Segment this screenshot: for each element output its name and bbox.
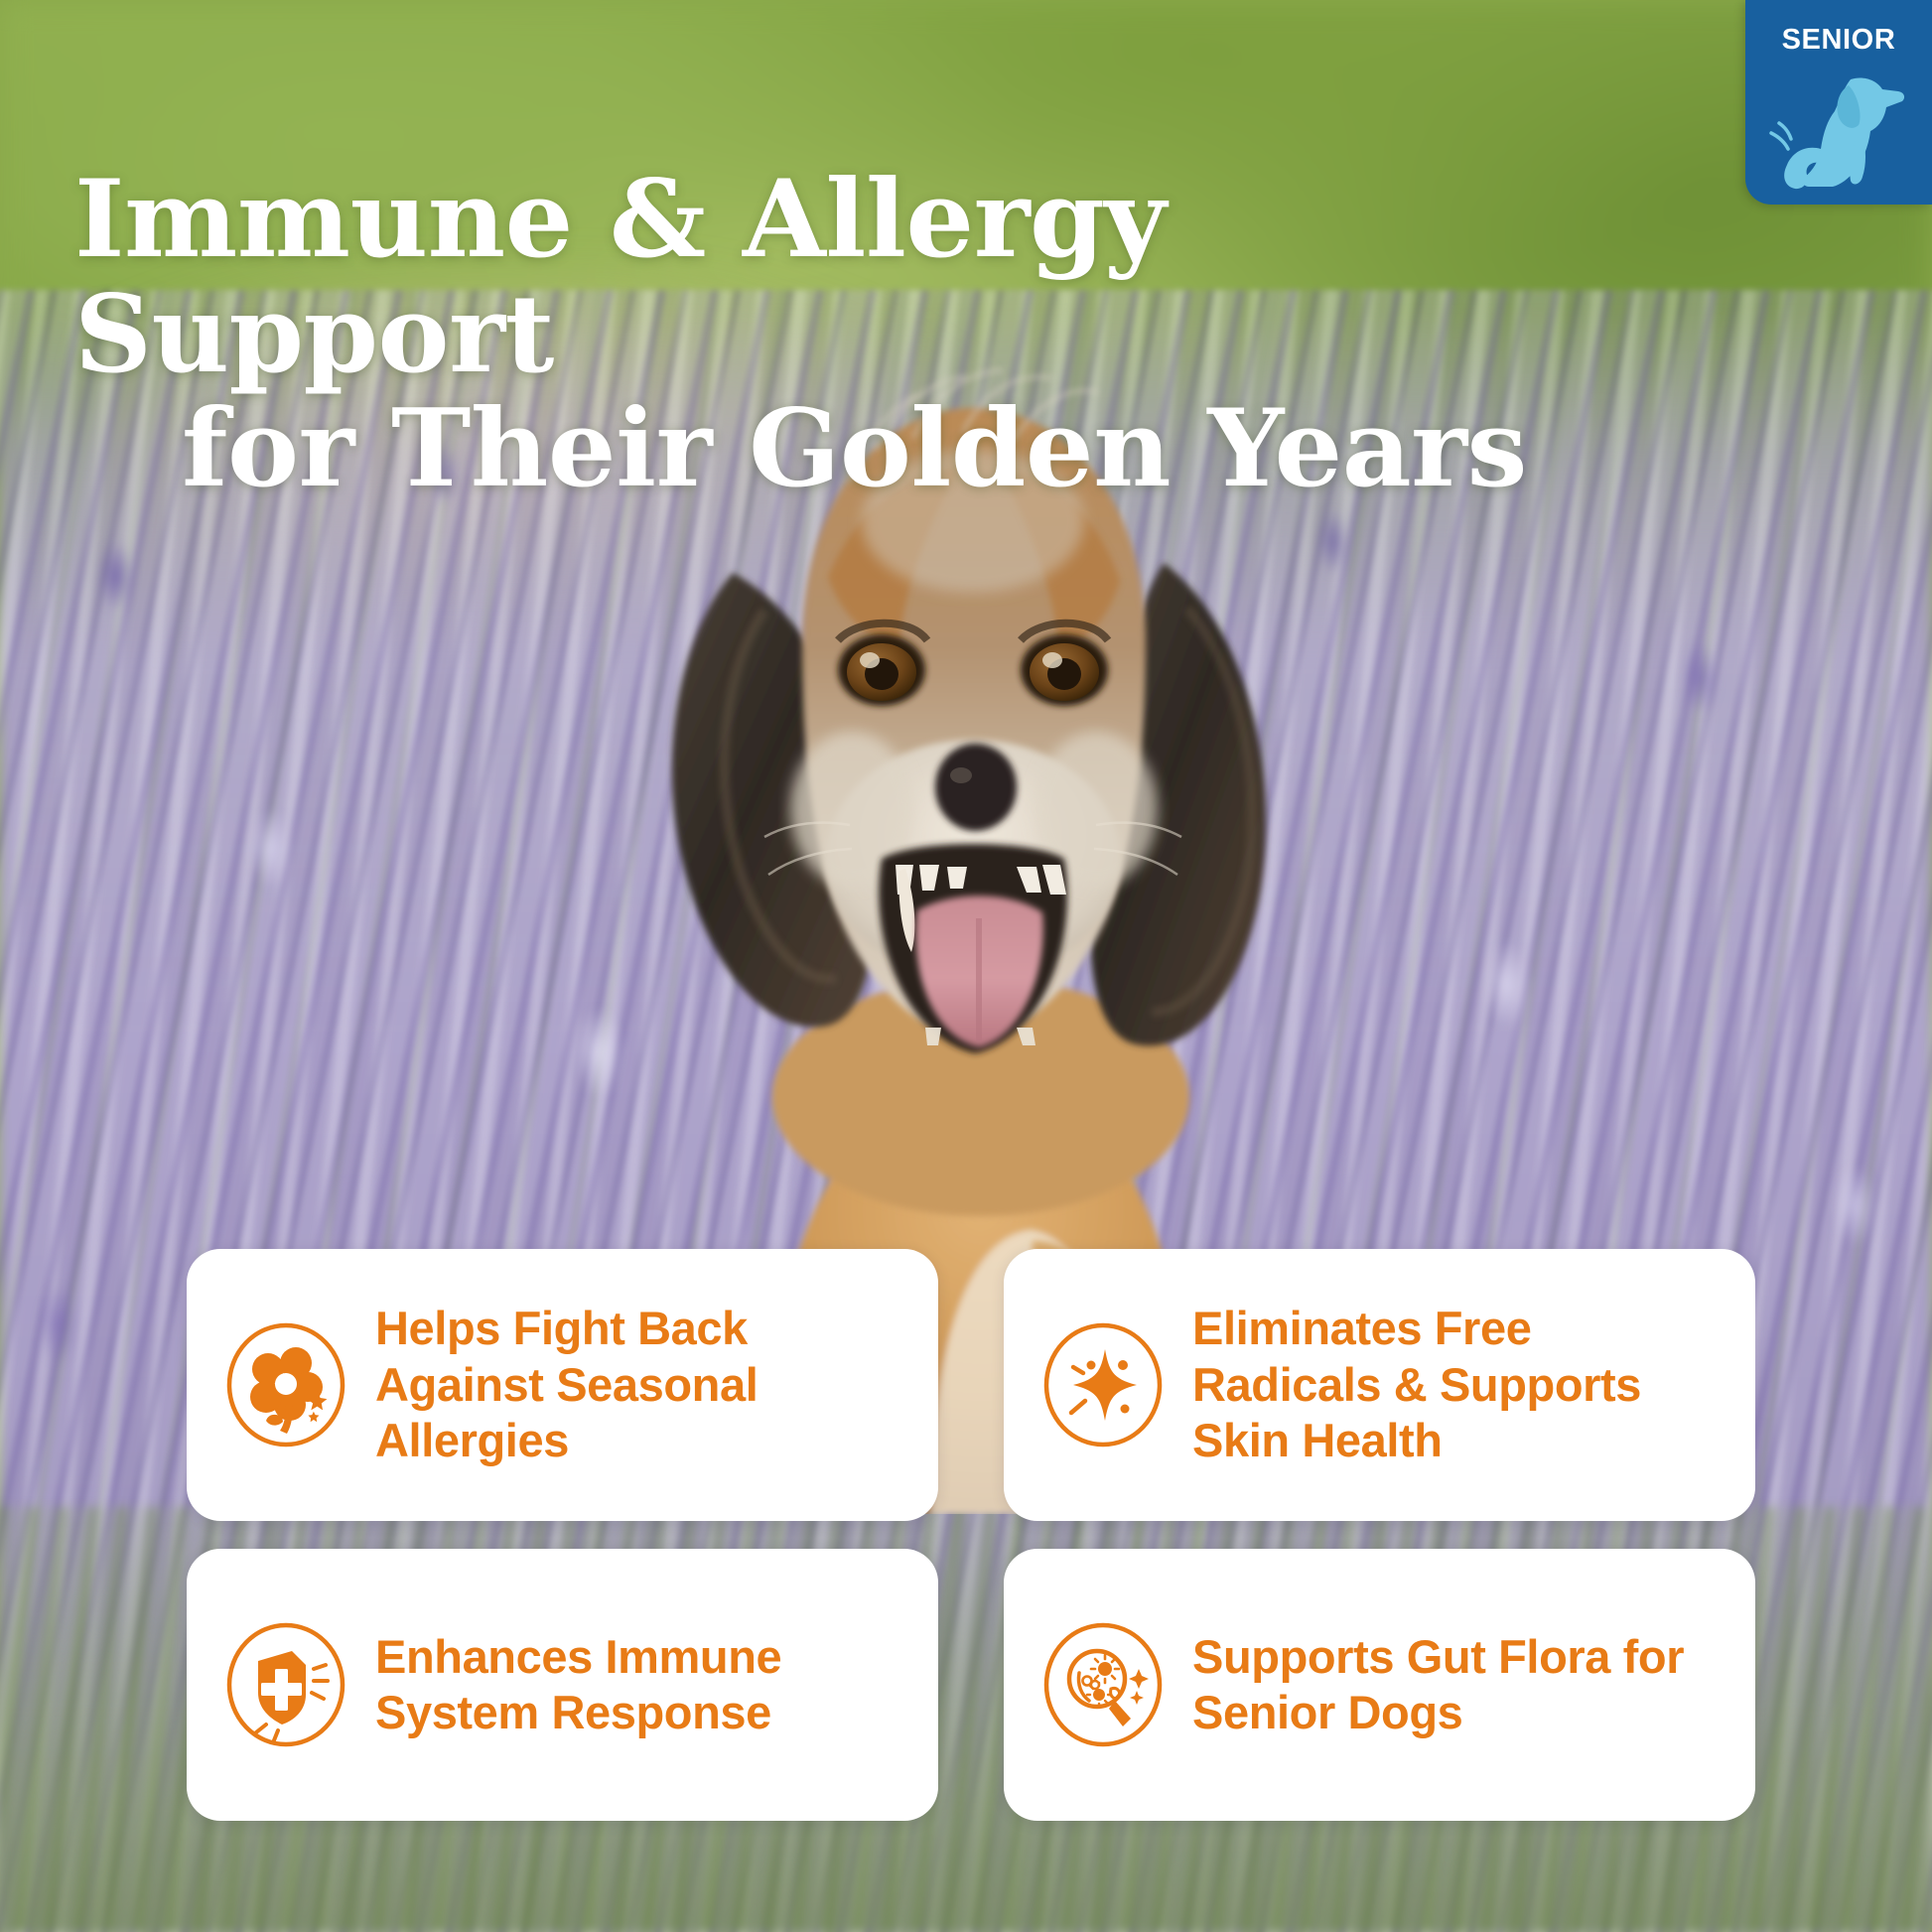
page-title: Immune & Allergy Support for Their Golde… — [74, 163, 1663, 507]
feature-card-grid: Helps Fight Back Against Seasonal Allerg… — [187, 1249, 1755, 1821]
senior-badge: SENIOR — [1745, 0, 1932, 205]
feature-card-gut-flora[interactable]: Supports Gut Flora for Senior Dogs — [1004, 1549, 1755, 1821]
feature-card-free-radicals[interactable]: Eliminates Free Radicals & Supports Skin… — [1004, 1249, 1755, 1521]
feature-card-text: Supports Gut Flora for Senior Dogs — [1192, 1629, 1725, 1741]
shield-plus-icon — [222, 1621, 349, 1748]
title-line-2: for Their Golden Years — [74, 392, 1663, 507]
feature-card-immune[interactable]: Enhances Immune System Response — [187, 1549, 938, 1821]
feature-card-allergies[interactable]: Helps Fight Back Against Seasonal Allerg… — [187, 1249, 938, 1521]
title-line-1: Immune & Allergy Support — [74, 163, 1663, 392]
sitting-dog-silhouette-icon — [1759, 62, 1918, 193]
senior-badge-label: SENIOR — [1745, 24, 1932, 57]
feature-card-text: Helps Fight Back Against Seasonal Allerg… — [375, 1301, 908, 1468]
product-feature-graphic: Immune & Allergy Support for Their Golde… — [0, 0, 1932, 1932]
magnifier-microbes-icon — [1039, 1621, 1167, 1748]
flower-sparkle-icon — [222, 1321, 349, 1449]
feature-card-text: Enhances Immune System Response — [375, 1629, 908, 1741]
feature-card-text: Eliminates Free Radicals & Supports Skin… — [1192, 1301, 1725, 1468]
sparkle-star-icon — [1039, 1321, 1167, 1449]
